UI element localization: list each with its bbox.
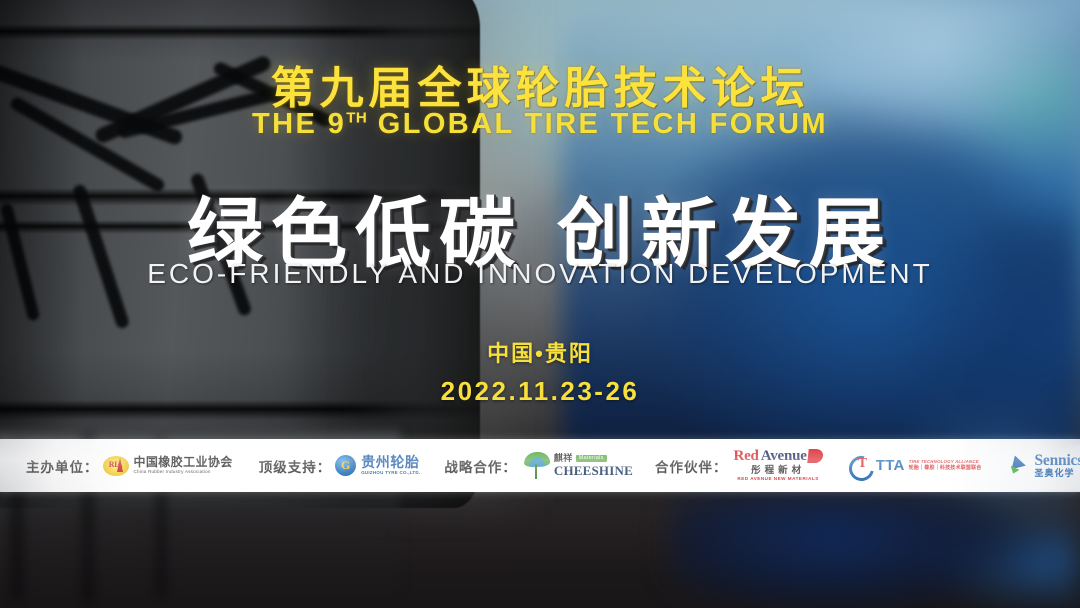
guizhou-wordmark: 贵州轮胎 GUIZHOU TYRE CO.,LTD.: [361, 455, 420, 475]
tta-name-en: TIRE TECHNOLOGY ALLIANCE: [909, 460, 982, 464]
tta-subtitle: TIRE TECHNOLOGY ALLIANCE 轮胎｜橡胶｜科技技术联盟联合: [909, 460, 982, 471]
tree-trunk-icon: [535, 464, 538, 479]
tta-name: TTA: [876, 457, 905, 474]
tta-emblem-icon: T: [849, 455, 873, 476]
tta-name-cn: 轮胎｜橡胶｜科技技术联盟联合: [909, 466, 982, 471]
cheeshine-tree-icon: [522, 451, 552, 481]
cria-name-en: China Rubber Industry Association: [134, 470, 233, 475]
sponsor-group-top-support: 顶级支持： 贵州轮胎 GUIZHOU TYRE CO.,LTD.: [259, 439, 421, 492]
guizhou-name-cn: 贵州轮胎: [361, 455, 420, 469]
conference-banner: 第九届全球轮胎技术论坛 THE 9TH GLOBAL TIRE TECH FOR…: [0, 0, 1080, 608]
red-avenue-word2: Avenue: [761, 449, 807, 464]
cria-name-cn: 中国橡胶工业协会: [134, 456, 233, 468]
guizhou-tyre-logo[interactable]: 贵州轮胎 GUIZHOU TYRE CO.,LTD.: [335, 455, 420, 476]
red-avenue-row: Red Avenue: [733, 449, 822, 464]
event-location: 中国•贵阳: [0, 336, 1080, 368]
ordinal-suffix: TH: [346, 109, 367, 126]
sennics-name-en: Sennics: [1035, 453, 1080, 469]
guizhou-g-icon: [335, 455, 356, 476]
event-dates: 2022.11.23-26: [0, 376, 1080, 407]
sponsor-group-partners: 合作伙伴： Red Avenue 彤程新材 RED AVENUE NEW MAT…: [655, 439, 823, 492]
banner-content: 第九届全球轮胎技术论坛 THE 9TH GLOBAL TIRE TECH FOR…: [0, 0, 1080, 608]
red-avenue-name-cn: 彤程新材: [733, 466, 822, 476]
sennics-bird-icon: [1010, 455, 1032, 477]
sponsor-label-top-support: 顶级支持：: [259, 456, 332, 476]
red-avenue-name-en: RED AVENUE NEW MATERIALS: [733, 477, 822, 482]
guizhou-name-en: GUIZHOU TYRE CO.,LTD.: [361, 471, 420, 475]
sponsor-bar: 主办单位： RIA 中国橡胶工业协会 China Rubber Industry…: [0, 439, 1080, 492]
tta-logo[interactable]: T TTA TIRE TECHNOLOGY ALLIANCE 轮胎｜橡胶｜科技技…: [849, 455, 982, 476]
cria-wordmark: 中国橡胶工业协会 China Rubber Industry Associati…: [134, 456, 233, 475]
sennics-logo[interactable]: Sennics 圣奥化学: [1010, 453, 1080, 479]
forum-title-en: THE 9TH GLOBAL TIRE TECH FORUM: [0, 108, 1080, 141]
cheeshine-name-cn: 麒祥: [554, 454, 573, 463]
cheeshine-name-en: CHEESHINE: [554, 464, 633, 477]
sponsor-group-strategic: 战略合作： 麒祥 Materials CHEESHINE: [444, 439, 633, 492]
sennics-wordmark: Sennics 圣奥化学: [1035, 453, 1080, 479]
sponsor-label-partners: 合作伙伴：: [655, 456, 728, 476]
slogan-en: ECO-FRIENDLY AND INNOVATION DEVELOPMENT: [0, 258, 1080, 290]
cria-mark-text: RIA: [103, 460, 129, 469]
cria-logo[interactable]: RIA 中国橡胶工业协会 China Rubber Industry Assoc…: [103, 456, 233, 476]
red-avenue-logo[interactable]: Red Avenue 彤程新材 RED AVENUE NEW MATERIALS: [733, 449, 822, 482]
forum-title-en-pre: THE 9: [252, 108, 346, 140]
forum-title-cn: 第九届全球轮胎技术论坛: [0, 52, 1080, 116]
cheeshine-row: 麒祥 Materials: [554, 454, 633, 463]
sponsor-label-strategic: 战略合作：: [444, 456, 517, 476]
sennics-name-cn: 圣奥化学: [1035, 469, 1080, 478]
forum-title-en-post: GLOBAL TIRE TECH FORUM: [367, 108, 828, 140]
cheeshine-wordmark: 麒祥 Materials CHEESHINE: [554, 454, 633, 477]
red-avenue-swoosh-icon: [807, 449, 823, 463]
red-avenue-word1: Red: [733, 449, 758, 464]
sponsor-group-organizer: 主办单位： RIA 中国橡胶工业协会 China Rubber Industry…: [26, 439, 233, 492]
cheeshine-materials-tag: Materials: [576, 455, 607, 463]
sponsor-label-organizer: 主办单位：: [26, 456, 99, 476]
cheeshine-logo[interactable]: 麒祥 Materials CHEESHINE: [522, 451, 633, 481]
cria-emblem-icon: RIA: [103, 456, 129, 476]
tta-t-mark-text: T: [858, 457, 867, 471]
red-avenue-wordmark: Red Avenue 彤程新材 RED AVENUE NEW MATERIALS: [733, 449, 822, 482]
